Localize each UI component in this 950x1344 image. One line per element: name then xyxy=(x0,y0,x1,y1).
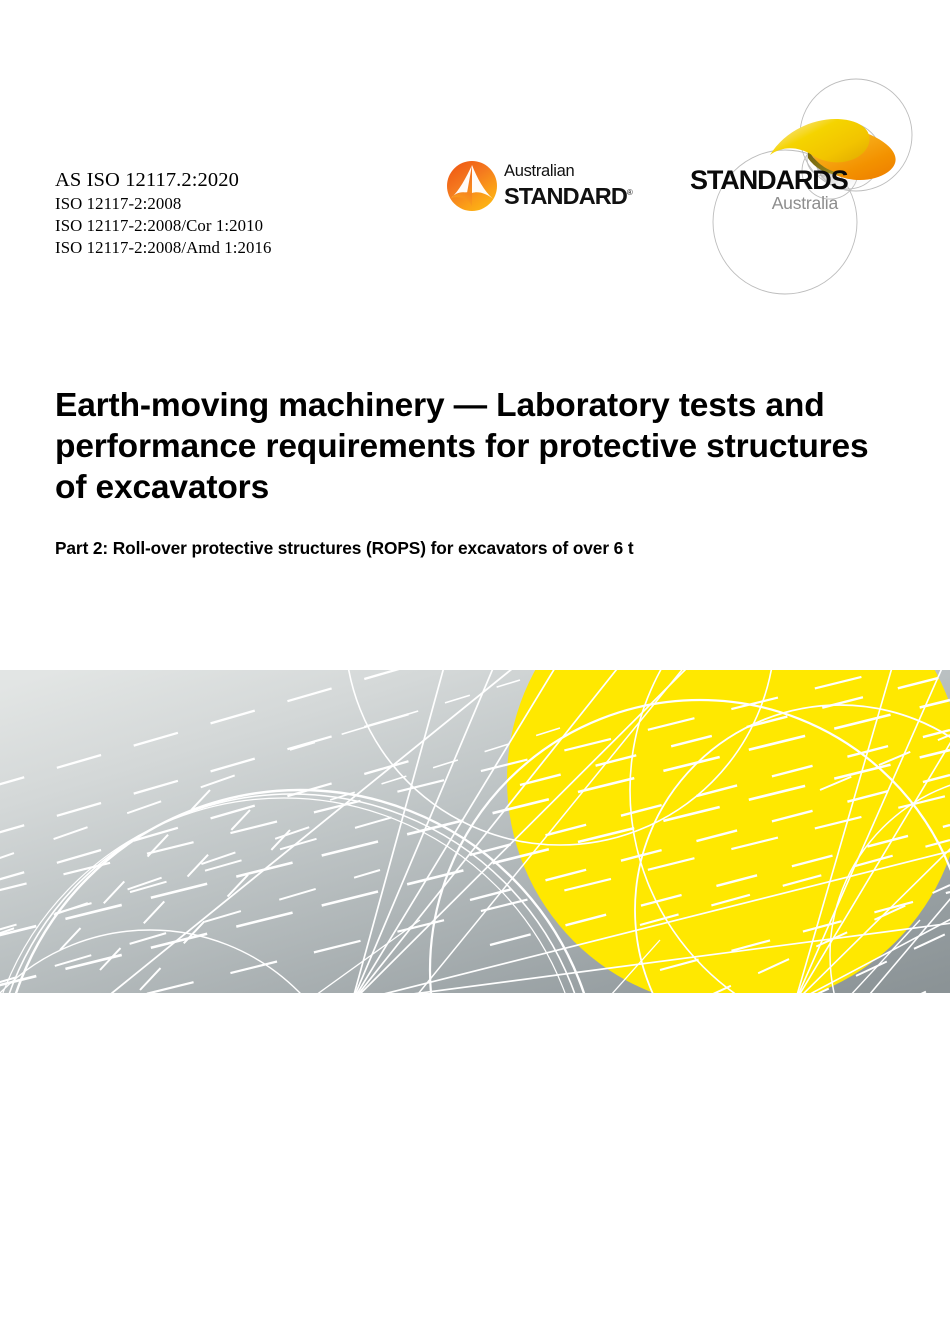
standards-australia-wordmark: STANDARDS Australia xyxy=(690,166,850,213)
triangle-in-circle-icon xyxy=(446,160,498,212)
wordmark-standard-text: STANDARD xyxy=(504,183,627,209)
wordmark-australia: Australia xyxy=(690,194,838,213)
wordmark-standard: STANDARD® xyxy=(504,180,632,209)
standard-designation-block: AS ISO 12117.2:2020 ISO 12117-2:2008 ISO… xyxy=(55,168,272,259)
standards-australia-logo: STANDARDS Australia xyxy=(672,62,950,312)
wordmark-australian: Australian xyxy=(504,162,632,180)
abstract-lines-band xyxy=(0,670,950,993)
cover-header: AS ISO 12117.2:2020 ISO 12117-2:2008 ISO… xyxy=(0,0,950,340)
designation-secondary-1: ISO 12117-2:2008 xyxy=(55,193,272,215)
designation-primary: AS ISO 12117.2:2020 xyxy=(55,168,272,193)
page-subtitle: Part 2: Roll-over protective structures … xyxy=(55,508,895,559)
registered-mark-icon: ® xyxy=(627,188,633,197)
australian-standard-logo: Australian STANDARD® xyxy=(446,160,631,216)
page-title: Earth-moving machinery — Laboratory test… xyxy=(55,385,895,508)
designation-secondary-2: ISO 12117-2:2008/Cor 1:2010 xyxy=(55,215,272,237)
wordmark-standards: STANDARDS xyxy=(690,166,850,194)
australian-standard-wordmark: Australian STANDARD® xyxy=(504,162,632,209)
designation-secondary-3: ISO 12117-2:2008/Amd 1:2016 xyxy=(55,237,272,259)
title-block: Earth-moving machinery — Laboratory test… xyxy=(55,385,895,559)
